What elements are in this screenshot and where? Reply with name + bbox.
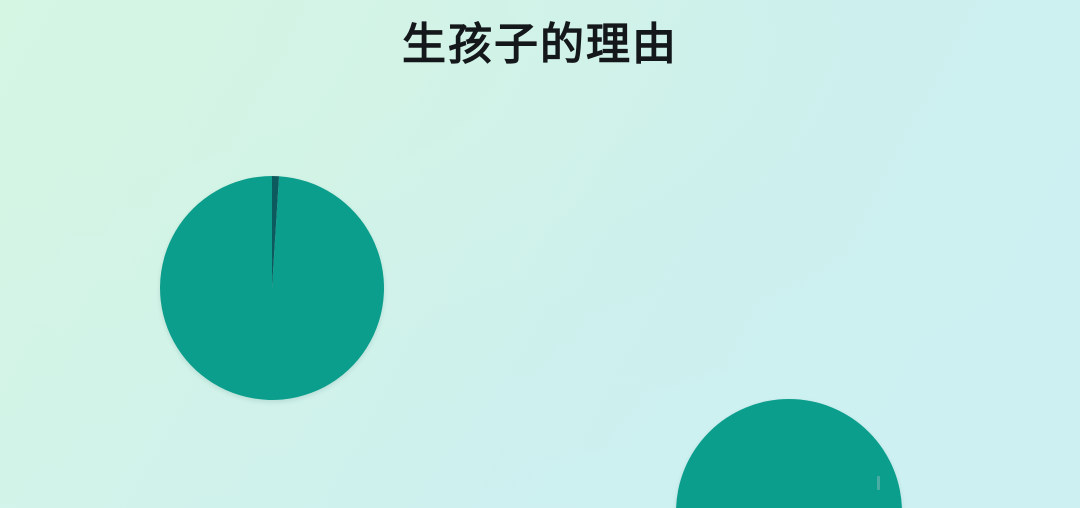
pie-slice-men-wife-worried-too-old (676, 399, 902, 508)
pie-chart-men-svg (676, 399, 902, 508)
pie-chart-men (676, 399, 902, 508)
capture-artifact-mark (877, 476, 880, 490)
infographic-canvas: 生孩子的理由 女人 男人 想要孩子 担心自己太老了 想要孩子 (0, 0, 1080, 508)
page-title: 生孩子的理由 (0, 18, 1080, 72)
pie-chart-women-svg (160, 176, 384, 400)
pie-chart-women (160, 176, 384, 400)
